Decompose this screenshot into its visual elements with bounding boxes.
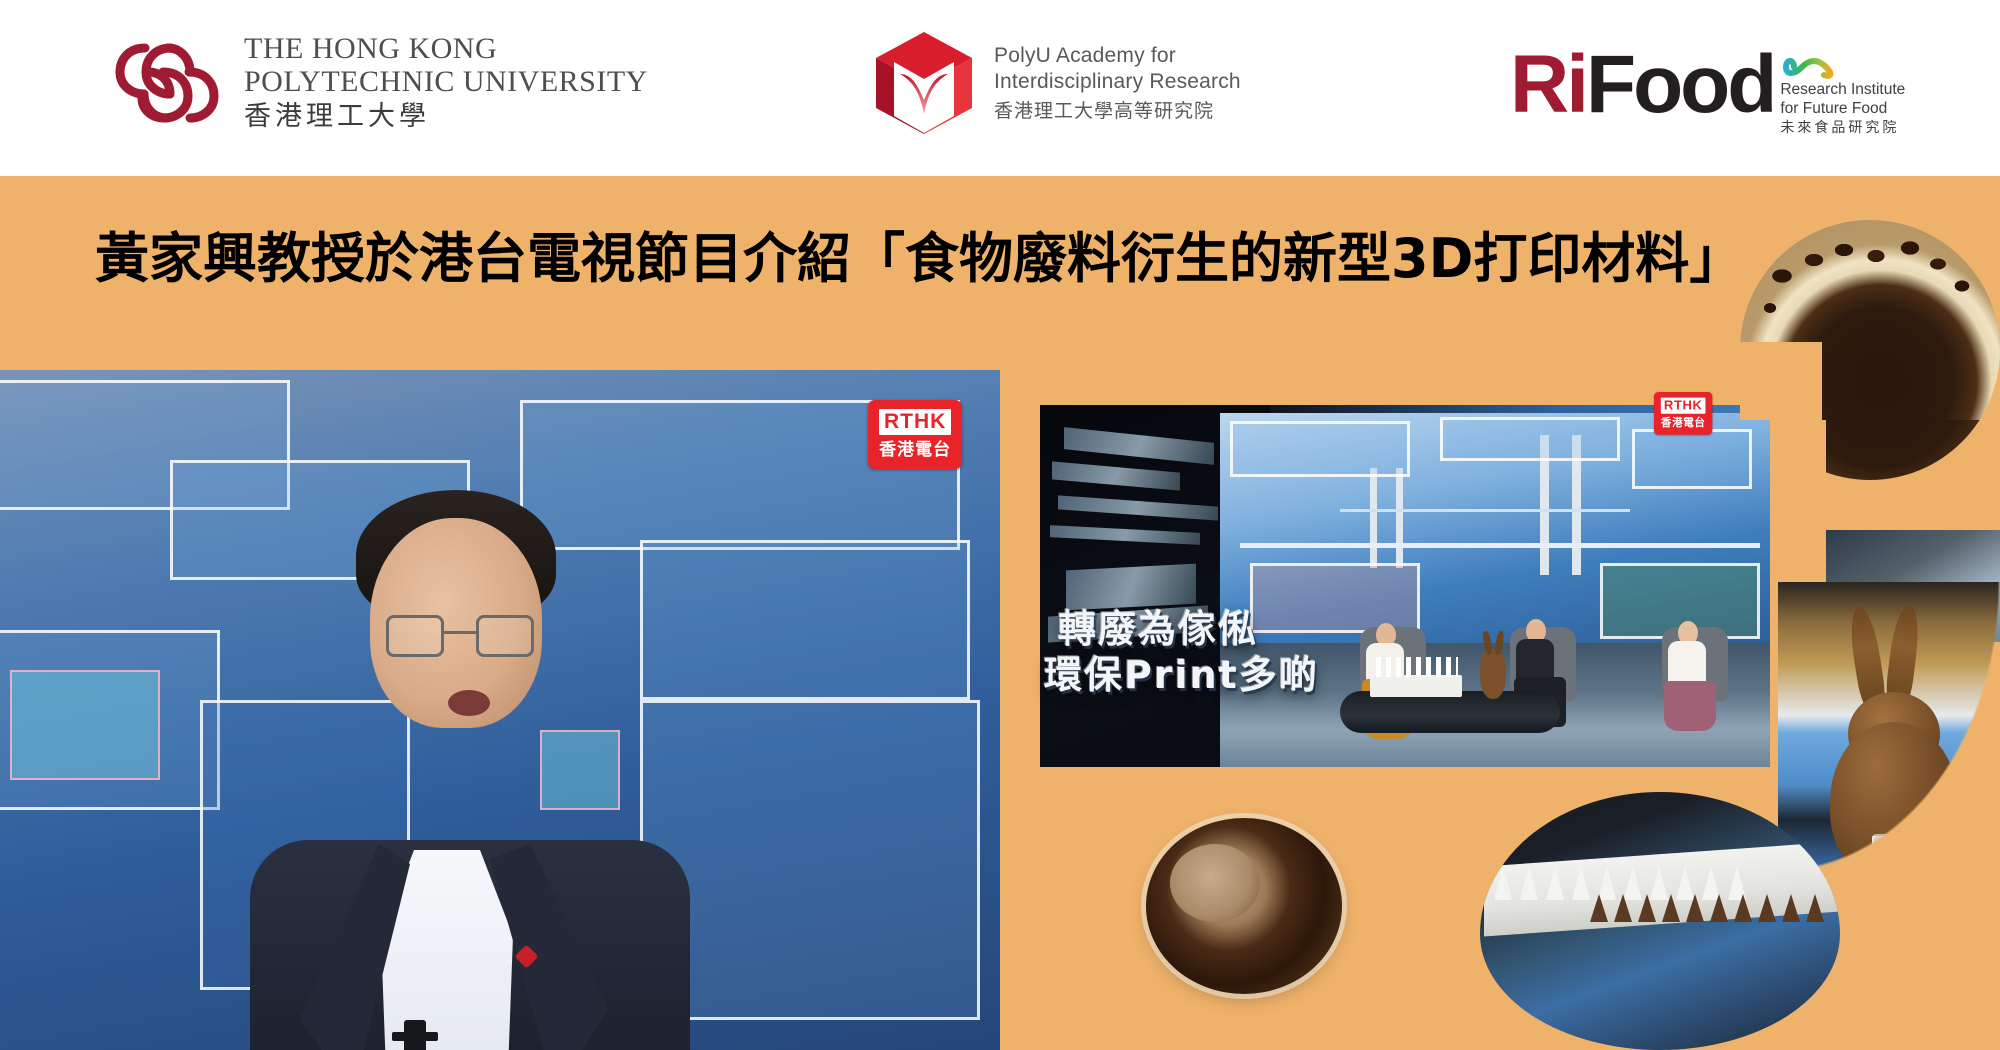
pair-line-1: PolyU Academy for — [994, 43, 1241, 69]
eyeglasses — [386, 615, 534, 659]
lapel-microphone — [404, 1020, 426, 1050]
studio-caption-line-1: 轉廢為傢俬 — [1058, 607, 1258, 651]
rthk-watermark-chinese: 香港電台 — [1660, 417, 1707, 430]
rthk-watermark-chinese: 香港電台 — [877, 440, 953, 461]
logo-hong-kong-polytechnic-university: THE HONG KONG POLYTECHNIC UNIVERSITY 香港理… — [108, 28, 648, 138]
studio-photo — [1040, 405, 1770, 767]
rifood-line-1: Research Institute — [1780, 80, 1905, 99]
rthk-watermark-studio: RTHK 香港電台 — [1654, 392, 1712, 435]
rifood-tagline-block: Research Institute for Future Food 未來食品研… — [1780, 32, 1905, 138]
coffee-grounds-photo — [1740, 220, 2000, 420]
poster-page: THE HONG KONG POLYTECHNIC UNIVERSITY 香港理… — [0, 0, 2000, 1050]
studio-caption-line-2: 環保Print多啲 — [1044, 652, 1319, 698]
coffee-glass — [1872, 834, 1938, 872]
logo-band: THE HONG KONG POLYTECHNIC UNIVERSITY 香港理… — [0, 0, 2000, 176]
infinity-icon — [1780, 54, 1905, 80]
coffee-cup — [1146, 818, 1342, 994]
logo-polyu-academy-for-interdisciplinary-research: PolyU Academy for Interdisciplinary Rese… — [872, 30, 1241, 136]
polyu-chinese-name: 香港理工大學 — [244, 101, 648, 133]
interview-photo — [0, 370, 1000, 1050]
logo-rifood: RiFood — [1510, 32, 1905, 138]
coffee-beans — [1752, 234, 1988, 324]
chess-set-photo — [1480, 792, 1840, 1050]
pair-line-2: Interdisciplinary Research — [994, 69, 1241, 95]
rifood-line-2: for Future Food — [1780, 99, 1905, 118]
person-mouth — [448, 690, 490, 716]
chess-photo-shape — [1480, 792, 1840, 1050]
studio-coffee-table — [1340, 691, 1560, 733]
polyu-line-2: POLYTECHNIC UNIVERSITY — [244, 65, 648, 99]
rthk-watermark-text: RTHK — [1660, 396, 1707, 415]
polyu-wordmark: THE HONG KONG POLYTECHNIC UNIVERSITY 香港理… — [244, 33, 648, 133]
rthk-watermark-text: RTHK — [877, 407, 953, 437]
rifood-wordmark: RiFood — [1510, 44, 1774, 126]
mini-chocolate-rabbit — [1480, 649, 1506, 699]
cappuccino-photo — [1090, 790, 1390, 1050]
coffee-grounds-photo-lower — [1826, 420, 2000, 530]
rifood-word-ri: Ri — [1510, 39, 1586, 130]
pair-cube-icon — [872, 30, 976, 136]
polyu-knot-icon — [108, 28, 226, 138]
coffee-foam — [1170, 844, 1260, 922]
studio-caption: 轉廢為傢俬 環保Print多啲 — [1058, 606, 1319, 698]
page-title: 黃家興教授於港台電視節目介紹「食物廢料衍生的新型3D打印材料」 — [95, 228, 1395, 290]
mini-chess-board — [1370, 675, 1462, 697]
rifood-chinese-name: 未來食品研究院 — [1780, 119, 1905, 138]
rthk-watermark-interview: RTHK 香港電台 — [868, 400, 962, 469]
pair-wordmark: PolyU Academy for Interdisciplinary Rese… — [994, 43, 1241, 124]
polyu-line-1: THE HONG KONG — [244, 33, 648, 65]
pair-chinese-name: 香港理工大學高等研究院 — [994, 98, 1241, 124]
coffee-corner-notch — [1740, 342, 1822, 420]
rifood-word-food: Food — [1586, 39, 1774, 130]
